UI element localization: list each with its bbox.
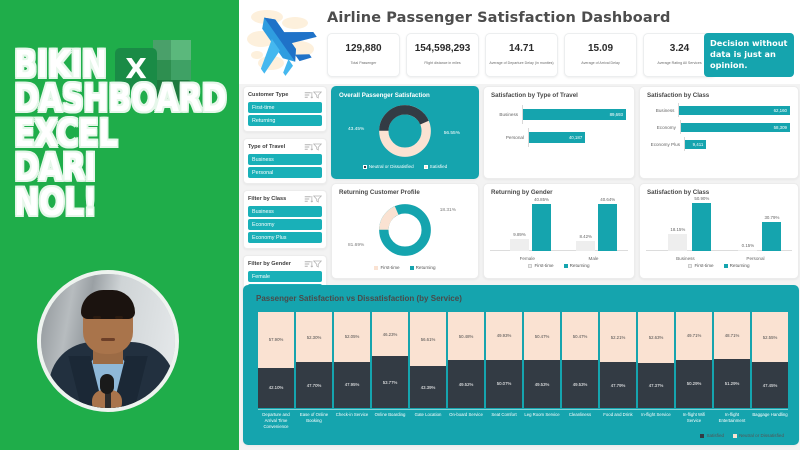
bar-returning[interactable]: 40.85% [532,204,551,251]
chart-legend: First-time Returning [484,263,634,268]
bar-category: Leg Room Service [524,412,560,431]
stacked-segment-satisfied: 43.39% [410,366,446,408]
stacked-segment-neutral: 52.05% [334,312,370,362]
chart-returning-customer-profile: Returning Customer Profile 18.31% 81.69%… [331,183,479,279]
slicer-header: Filter by Gender [248,260,322,268]
donut-label: 18.31% [440,208,456,213]
chart-legend: First-time Returning [332,265,478,270]
bar-category: Business [648,108,678,113]
legend-item: Satisfied [424,164,448,169]
bar-category: Online Boarding [372,412,408,431]
legend-label: First-time [380,265,399,270]
slicer-column: Customer Type First-time Returning Type … [243,86,327,307]
bar-category: In-flight Wifi Service [676,412,712,431]
bar-category: On-board Service [448,412,484,431]
slicer-title: Filter by Gender [248,261,304,267]
avatar [37,270,179,412]
bar[interactable]: 89,693 [523,109,626,120]
stacked-segment-satisfied: 51.29% [714,359,750,408]
page-title: Airline Passenger Satisfaction Dashboard [327,10,670,26]
kpi-label: Average of Departure Delay (in munites) [486,61,556,66]
chart-returning-by-gender: Returning by Gender 9.89% 40.85% 8.42% [483,183,635,279]
bar-value: 18.15% [661,227,695,232]
stacked-bar-column[interactable]: 49.93%50.07% [486,312,522,408]
bar-category: Seat Comfort [486,412,522,431]
stacked-segment-satisfied: 49.53% [524,360,560,408]
avatar-hair [81,290,135,319]
donut-label: 56.55% [444,131,460,136]
stacked-segment-satisfied: 42.10% [258,368,294,408]
slicer-option[interactable]: First-time [248,102,322,113]
stacked-segment-neutral: 46.23% [372,312,408,356]
stacked-segment-satisfied: 47.79% [600,362,636,408]
slicer-option[interactable]: Economy [248,219,322,230]
legend-item: First-time [528,263,553,268]
legend-label: Returning [730,263,750,268]
legend-swatch [724,264,728,268]
chart-title: Satisfaction by Class [640,87,798,99]
bar-row: Personal 40,187 [492,128,626,147]
kpi-value: 15.09 [588,43,613,54]
stacked-bar-area: 57.90%42.10%52.30%47.70%52.05%47.95%46.2… [258,312,788,408]
bar-returning[interactable]: 40.64% [598,204,617,251]
bar-group: 9.89% 40.85% [496,199,559,251]
filter-icon[interactable] [313,91,322,99]
axis-line [258,409,788,410]
stacked-segment-satisfied: 47.37% [638,363,674,408]
chart-legend: First-time Returning [640,263,798,268]
bar-area: Business 89,693 Personal 40,187 [484,99,634,155]
stacked-segment-neutral: 56.61% [410,312,446,366]
bar-value: 0.15% [731,243,765,248]
bar-returning[interactable]: 50.90% [692,203,711,251]
stacked-segment-satisfied: 47.45% [752,362,788,408]
bar-category: In-flight Entertainment [714,412,750,431]
bar-first-time[interactable]: 18.15% [668,234,687,251]
legend-label: Returning [570,263,590,268]
bar-category: In-flight Service [638,412,674,431]
chart-legend: Satisfied Neutral or Dissatisfied [700,433,784,438]
bar-value: 50.90% [685,196,719,201]
bar-category: Business [492,112,522,117]
slicer-header: Customer Type [248,91,322,99]
avatar-mouth [101,338,115,341]
legend-item: First-time [374,265,399,270]
chart-satisfaction-vs-dissatisfaction-by-service: Passenger Satisfaction vs Dissatisfactio… [243,285,799,445]
microphone-icon [100,374,114,394]
chart-title: Returning by Gender [484,184,634,196]
kpi-label: Average Rating All Services [654,61,704,66]
legend-label: Returning [416,265,436,270]
chart-title: Returning Customer Profile [332,184,478,196]
stacked-segment-neutral: 50.47% [524,312,560,360]
dashboard-header: Airline Passenger Satisfaction Dashboard… [239,0,800,84]
stacked-segment-neutral: 52.21% [600,312,636,362]
bar-row: Economy 58,309 [648,120,790,134]
bar[interactable]: 58,309 [681,123,790,132]
bar-first-time[interactable]: 0.15% [738,250,757,251]
chart-satisfaction-by-class-percent: Satisfaction by Class 18.15% 50.90% 0.15… [639,183,799,279]
bar-value: 58,309 [774,125,787,130]
legend-swatch [733,434,737,438]
legend-swatch [564,264,568,268]
chart-satisfaction-by-class-counts: Satisfaction by Class Business 62,160 Ec… [639,86,799,179]
legend-item: Neutral or Dissatisfied [733,433,784,438]
kpi-value: 3.24 [670,43,689,54]
legend-swatch [528,264,532,268]
sort-icon[interactable] [304,91,313,99]
stacked-segment-neutral: 50.48% [448,312,484,360]
stacked-bar-column[interactable]: 49.71%50.29% [676,312,712,408]
stacked-bar-column[interactable]: 46.23%53.77% [372,312,408,408]
legend-swatch [424,165,428,169]
bar-category: Departure and Arrival Time Convenience [258,412,294,431]
microphone-stem-icon [105,391,111,412]
chart-title: Satisfaction by Class [640,184,798,196]
stacked-bar-column[interactable]: 52.05%47.95% [334,312,370,408]
bar-group: 0.15% 30.79% [722,199,789,251]
bar-group: 8.42% 40.64% [562,199,625,251]
slicer-title: Type of Travel [248,144,304,150]
bar-category: Cleanliness [562,412,598,431]
stacked-bar-column[interactable]: 52.30%47.70% [296,312,332,408]
stacked-segment-satisfied: 49.53% [562,360,598,408]
legend-item: Neutral or Dissatisfied [363,164,414,169]
stacked-segment-neutral: 49.93% [486,312,522,360]
bar-category: Baggage Handling [752,412,788,431]
slicer-customer-type[interactable]: Customer Type First-time Returning [243,86,327,132]
donut-label: 81.69% [348,243,364,248]
bar-category: Male [562,256,625,261]
stacked-segment-neutral: 57.90% [258,312,294,368]
chart-title: Satisfaction by Type of Travel [484,87,634,99]
legend-item: Satisfied [700,433,724,438]
filter-icon[interactable] [313,195,322,203]
legend-swatch [688,264,692,268]
stacked-segment-satisfied: 49.52% [448,360,484,408]
bar-value: 40.85% [525,197,559,202]
slicer-title: Customer Type [248,92,304,98]
legend-item: Returning [564,263,590,268]
sort-icon[interactable] [304,195,313,203]
slicer-option[interactable]: Business [248,206,322,217]
kpi-label: Total Passenger [348,61,380,66]
stacked-segment-satisfied: 50.07% [486,360,522,408]
stacked-bar-column[interactable]: 52.21%47.79% [600,312,636,408]
bar-category: Check-in Service [334,412,370,431]
quote-banner: Decision without data is just an opinion… [704,33,794,77]
promo-headline: BIKIN DASHBOARD EXCEL DARI NOL! [14,48,190,220]
legend-label: Neutral or Dissatisfied [369,164,414,169]
bar-category: Gate Location [410,412,446,431]
chart-overall-passenger-satisfaction: Overall Passenger Satisfaction 43.45% 56… [331,86,479,179]
stacked-segment-neutral: 48.71% [714,312,750,359]
bar-category: Female [496,256,559,261]
slicer-header: Filter by Class [248,195,322,203]
kpi-value: 129,880 [345,43,381,54]
airplane-icon [245,3,321,79]
legend-item: Returning [724,263,750,268]
bar[interactable]: 9,411 [685,140,706,149]
avatar-eye-left [93,316,101,319]
bar-row: Business 89,693 [492,105,626,124]
stacked-bar-column[interactable]: 50.48%49.52% [448,312,484,408]
legend-label: Satisfied [430,164,448,169]
bar[interactable]: 62,160 [679,106,790,115]
stacked-bar-column[interactable]: 48.71%51.29% [714,312,750,408]
stacked-bar-column[interactable]: 50.47%49.53% [524,312,560,408]
slicer-filter-by-class[interactable]: Filter by Class Business Economy Economy… [243,190,327,249]
stacked-bar-column[interactable]: 52.63%47.37% [638,312,674,408]
kpi-value: 14.71 [509,43,534,54]
sort-icon[interactable] [304,143,313,151]
donut-area: 43.45% 56.55% [332,101,478,163]
stacked-bar-column[interactable]: 56.61%43.39% [410,312,446,408]
bar-first-time[interactable]: 9.89% [510,239,529,251]
kpi-value: 154,598,293 [415,43,471,54]
stacked-segment-neutral: 49.71% [676,312,712,360]
kpi-label: Flight distance in miles [421,61,463,66]
bar-area: Business 62,160 Economy 58,309 Economy P… [640,99,798,155]
stacked-segment-satisfied: 47.70% [296,362,332,408]
bar-category: Economy [648,125,680,130]
bar-returning[interactable]: 30.79% [762,222,781,251]
bar-category: Business [652,256,719,261]
legend-swatch [363,165,367,169]
donut-chart [377,103,433,159]
stacked-segment-neutral: 52.55% [752,312,788,362]
bar-category: Personal [492,135,528,140]
stacked-bar-categories: Departure and Arrival Time ConvenienceEa… [258,412,788,431]
bar-category: Economy Plus [648,142,684,147]
legend-label: First-time [534,263,553,268]
slicer-title: Filter by Class [248,196,304,202]
bar-value: 40,187 [569,135,582,140]
stacked-segment-neutral: 50.47% [562,312,598,360]
bar[interactable]: 40,187 [529,132,585,143]
filter-icon[interactable] [313,143,322,151]
donut-area: 18.31% 81.69% [332,198,478,264]
slicer-option[interactable]: Returning [248,115,322,126]
kpi-card: 15.09 Average of Arrival Delay [564,33,637,77]
kpi-card: 14.71 Average of Departure Delay (in mun… [485,33,558,77]
stacked-segment-neutral: 52.30% [296,312,332,362]
slicer-option[interactable]: Female [248,271,322,282]
legend-item: First-time [688,263,713,268]
bar-row: Economy Plus 9,411 [648,137,790,151]
filter-icon[interactable] [313,260,322,268]
donut-label: 43.45% [348,127,364,132]
slicer-header: Type of Travel [248,143,322,151]
chart-satisfaction-by-type-of-travel: Satisfaction by Type of Travel Business … [483,86,635,179]
legend-swatch [700,434,704,438]
stacked-segment-satisfied: 53.77% [372,356,408,408]
stacked-segment-satisfied: 47.95% [334,362,370,408]
bar-row: Business 62,160 [648,103,790,117]
legend-swatch [410,266,414,270]
slicer-option[interactable]: Business [248,154,322,165]
kpi-row: 129,880 Total Passenger 154,598,293 Flig… [327,33,716,77]
stacked-bar-column[interactable]: 57.90%42.10% [258,312,294,408]
legend-label: First-time [694,263,713,268]
stacked-segment-neutral: 52.63% [638,312,674,363]
bar-category: Personal [722,256,789,261]
legend-label: Neutral or Dissatisfied [739,433,784,438]
legend-swatch [374,266,378,270]
chart-legend: Neutral or Dissatisfied Satisfied [332,164,478,169]
kpi-card: 154,598,293 Flight distance in miles [406,33,479,77]
stacked-segment-satisfied: 50.29% [676,360,712,408]
kpi-card: 129,880 Total Passenger [327,33,400,77]
stacked-bar-column[interactable]: 52.55%47.45% [752,312,788,408]
kpi-label: Average of Arrival Delay [578,61,623,66]
bar-value: 30.79% [755,215,789,220]
donut-chart [377,202,433,258]
bar-area: 9.89% 40.85% 8.42% 40.64% Female [490,199,628,263]
bar-value: 89,693 [610,112,623,117]
legend-item: Returning [410,265,436,270]
avatar-eye-right [115,316,123,319]
bar-value: 9,411 [693,142,704,147]
bar-group: 18.15% 50.90% [652,199,719,251]
slicer-type-of-travel[interactable]: Type of Travel Business Personal [243,138,327,184]
bar-category: Food and Drink [600,412,636,431]
promo-panel: X BIKIN DASHBOARD EXCEL DARI NOL! [0,0,236,450]
dashboard: Airline Passenger Satisfaction Dashboard… [236,0,800,450]
chart-title: Overall Passenger Satisfaction [332,87,478,99]
legend-label: Satisfied [706,433,724,438]
bar-value: 40.64% [591,197,625,202]
bar-area: 18.15% 50.90% 0.15% 30.79% Business [646,199,792,263]
bar-category: Ease of Online Booking [296,412,332,431]
bar-value: 62,160 [774,108,787,113]
slicer-option[interactable]: Personal [248,167,322,178]
bar-first-time[interactable]: 8.42% [576,241,595,251]
slicer-option[interactable]: Economy Plus [248,232,322,243]
sort-icon[interactable] [304,260,313,268]
chart-title: Passenger Satisfaction vs Dissatisfactio… [244,286,798,303]
stacked-bar-column[interactable]: 50.47%49.53% [562,312,598,408]
